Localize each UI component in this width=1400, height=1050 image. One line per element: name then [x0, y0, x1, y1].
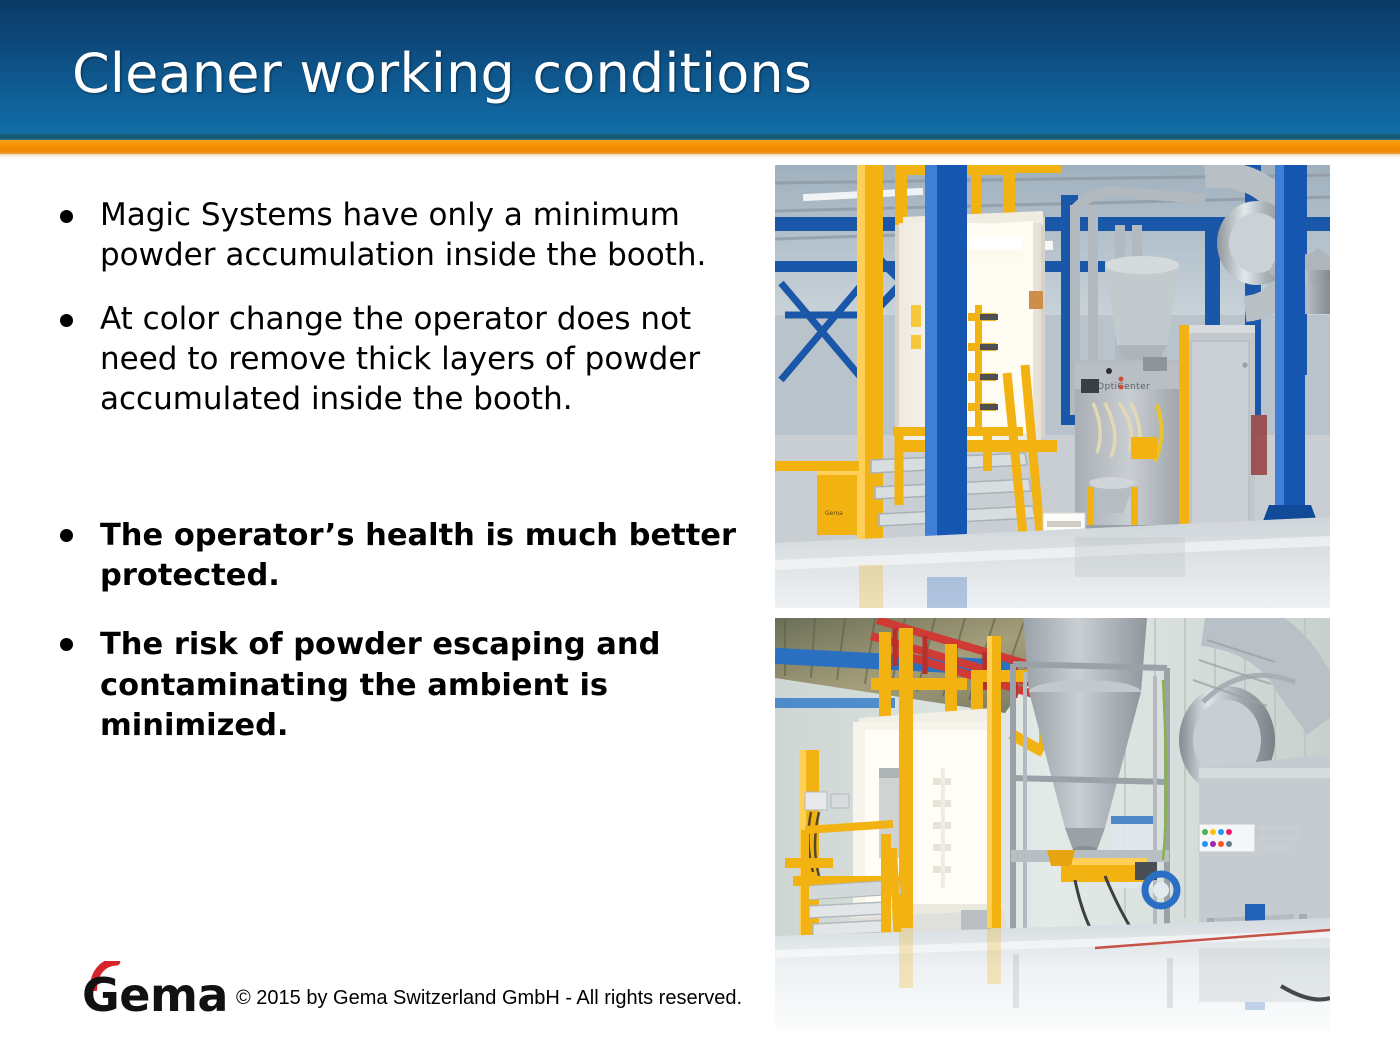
svg-text:Gema: Gema	[825, 510, 843, 517]
powder-coating-booth-opticenter-photo: Gema OptiCenter	[775, 165, 1330, 608]
bullet-dot-icon	[60, 196, 100, 223]
slide-footer: Gema © 2015 by Gema Switzerland GmbH - A…	[82, 960, 742, 1018]
bullet-text: Magic Systems have only a minimum powder…	[100, 196, 760, 276]
powder-coating-booth-cyclone-photo	[775, 618, 1330, 1030]
bullet-dot-icon	[60, 625, 100, 651]
bullet-group-spacer	[60, 420, 760, 516]
bullet-dot-icon	[60, 300, 100, 327]
svg-text:OptiCenter: OptiCenter	[1097, 382, 1150, 392]
bullet-dot-icon	[60, 516, 100, 542]
copyright-text: © 2015 by Gema Switzerland GmbH - All ri…	[236, 987, 742, 1018]
gema-logo: Gema	[82, 960, 214, 1018]
list-item: Magic Systems have only a minimum powder…	[60, 196, 760, 276]
page-title: Cleaner working conditions	[72, 44, 812, 103]
bullet-text: The risk of powder escaping and contamin…	[100, 625, 760, 746]
bullet-list: Magic Systems have only a minimum powder…	[60, 196, 760, 768]
bullet-text: The operator’s health is much better pro…	[100, 516, 760, 597]
gema-logo-text: Gema	[82, 972, 228, 1018]
list-item: The operator’s health is much better pro…	[60, 516, 760, 597]
slide-header: Cleaner working conditions	[0, 0, 1400, 139]
accent-bar	[0, 140, 1400, 154]
list-item: At color change the operator does not ne…	[60, 300, 760, 420]
list-item: The risk of powder escaping and contamin…	[60, 625, 760, 746]
bullet-text: At color change the operator does not ne…	[100, 300, 760, 420]
